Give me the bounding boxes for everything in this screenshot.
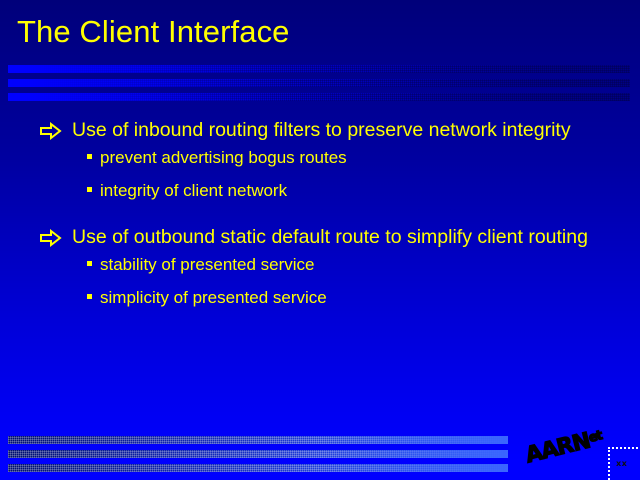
decorative-bar-dither <box>8 464 508 472</box>
decorative-bar-bottom-2 <box>8 450 508 458</box>
bullet-dot-icon <box>87 154 92 159</box>
page-number-placeholder-box: xx <box>608 447 638 480</box>
decorative-bar-dither <box>8 93 630 101</box>
bullet-level2: integrity of client network <box>0 180 640 213</box>
decorative-bar-dither <box>8 436 508 444</box>
decorative-bar-dither <box>8 450 508 458</box>
bullet-dot-icon <box>87 187 92 192</box>
decorative-bar-bottom-1 <box>8 436 508 444</box>
decorative-bar-top-2 <box>8 79 630 87</box>
bullet-dot-icon <box>87 294 92 299</box>
bullet-level1: Use of inbound routing filters to preser… <box>0 118 640 143</box>
decorative-bar-dither <box>8 65 630 73</box>
bullet-level2-text: integrity of client network <box>100 181 287 200</box>
bullet-level2: prevent advertising bogus routes <box>0 147 640 180</box>
aarnet-logo: AARNet <box>526 430 606 472</box>
decorative-bar-top-1 <box>8 65 630 73</box>
bullet-level2-text: prevent advertising bogus routes <box>100 148 347 167</box>
bullet-dot-icon <box>87 261 92 266</box>
bullet-level2: stability of presented service <box>0 254 640 287</box>
decorative-bar-dither <box>8 79 630 87</box>
arrow-right-outline-icon <box>40 122 62 140</box>
aarnet-logo-text: AARNet <box>523 425 605 468</box>
bullet-level2-text: stability of presented service <box>100 255 315 274</box>
bullet-level1-text: Use of outbound static default route to … <box>72 226 588 248</box>
aarnet-logo-suffix: et <box>587 428 603 446</box>
bullet-level1: Use of outbound static default route to … <box>0 225 640 250</box>
bullet-level2: simplicity of presented service <box>0 287 640 320</box>
slide: The Client Interface Use of inbound rout… <box>0 0 640 480</box>
bullet-level1-text: Use of inbound routing filters to preser… <box>72 119 571 141</box>
slide-body: Use of inbound routing filters to preser… <box>0 118 640 320</box>
decorative-bar-top-3 <box>8 93 630 101</box>
arrow-right-outline-icon <box>40 229 62 247</box>
decorative-bar-bottom-3 <box>8 464 508 472</box>
page-number-text: xx <box>616 459 627 468</box>
slide-title: The Client Interface <box>17 14 617 50</box>
bullet-level2-text: simplicity of presented service <box>100 288 327 307</box>
aarnet-logo-main: AARN <box>523 429 593 469</box>
